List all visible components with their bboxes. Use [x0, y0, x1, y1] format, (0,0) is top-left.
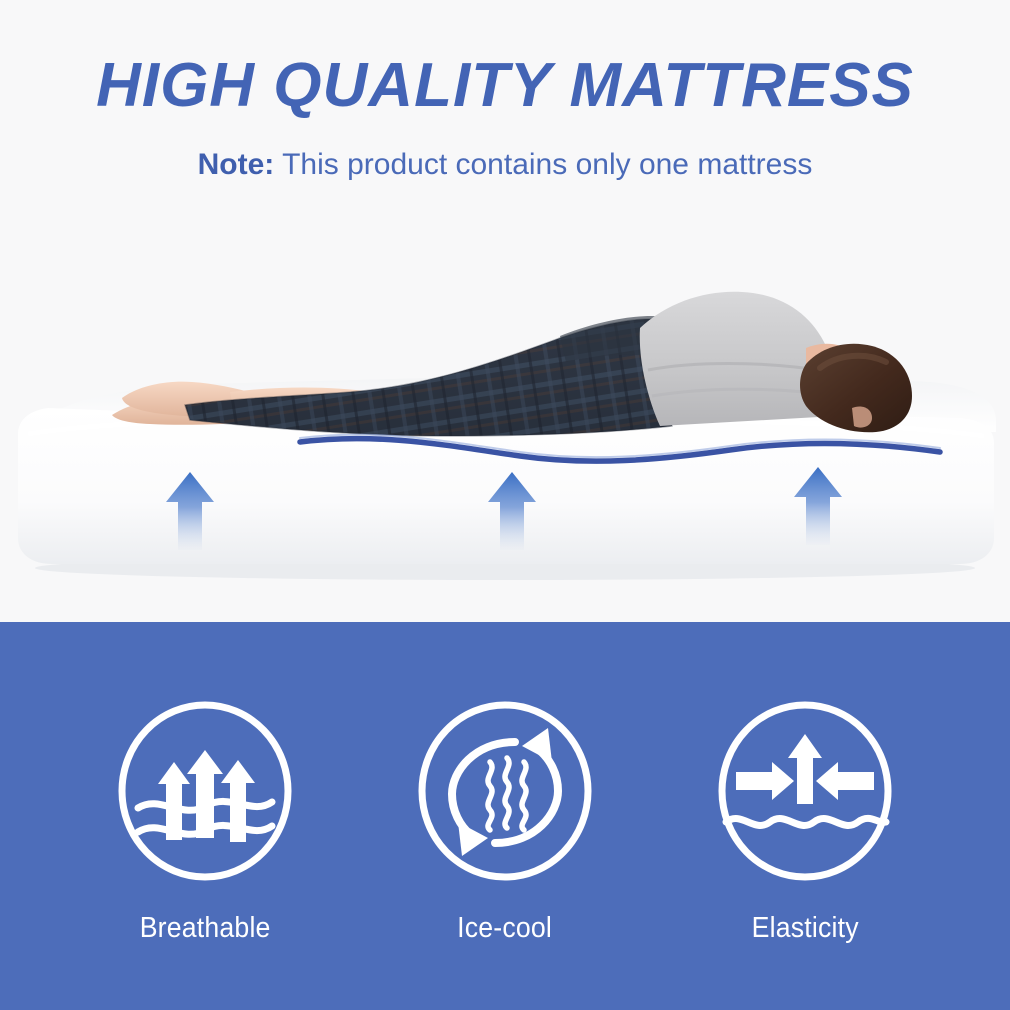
note-text: This product contains only one mattress [274, 148, 812, 181]
header-section: HIGH QUALITY MATTRESS Note: This product… [0, 0, 1010, 220]
feature-label: Ice-cool [458, 914, 553, 943]
note-label: Note: [198, 148, 275, 181]
mattress-scene [0, 220, 1010, 622]
mattress-illustration [0, 220, 1010, 622]
features-section: Breathable [0, 622, 1010, 1010]
feature-label: Breathable [140, 914, 271, 943]
product-infographic: HIGH QUALITY MATTRESS Note: This product… [0, 0, 1010, 1010]
feature-label: Elasticity [751, 914, 858, 943]
features-row: Breathable [0, 622, 1010, 1010]
feature-ice-cool[interactable]: Ice-cool [355, 622, 655, 943]
page-title: HIGH QUALITY MATTRESS [0, 55, 1010, 117]
breathable-icon [112, 698, 298, 884]
elasticity-icon [712, 698, 898, 884]
feature-elasticity[interactable]: Elasticity [655, 622, 955, 943]
feature-breathable[interactable]: Breathable [55, 622, 355, 943]
ice-cool-icon [412, 698, 598, 884]
note-line: Note: This product contains only one mat… [0, 150, 1010, 180]
